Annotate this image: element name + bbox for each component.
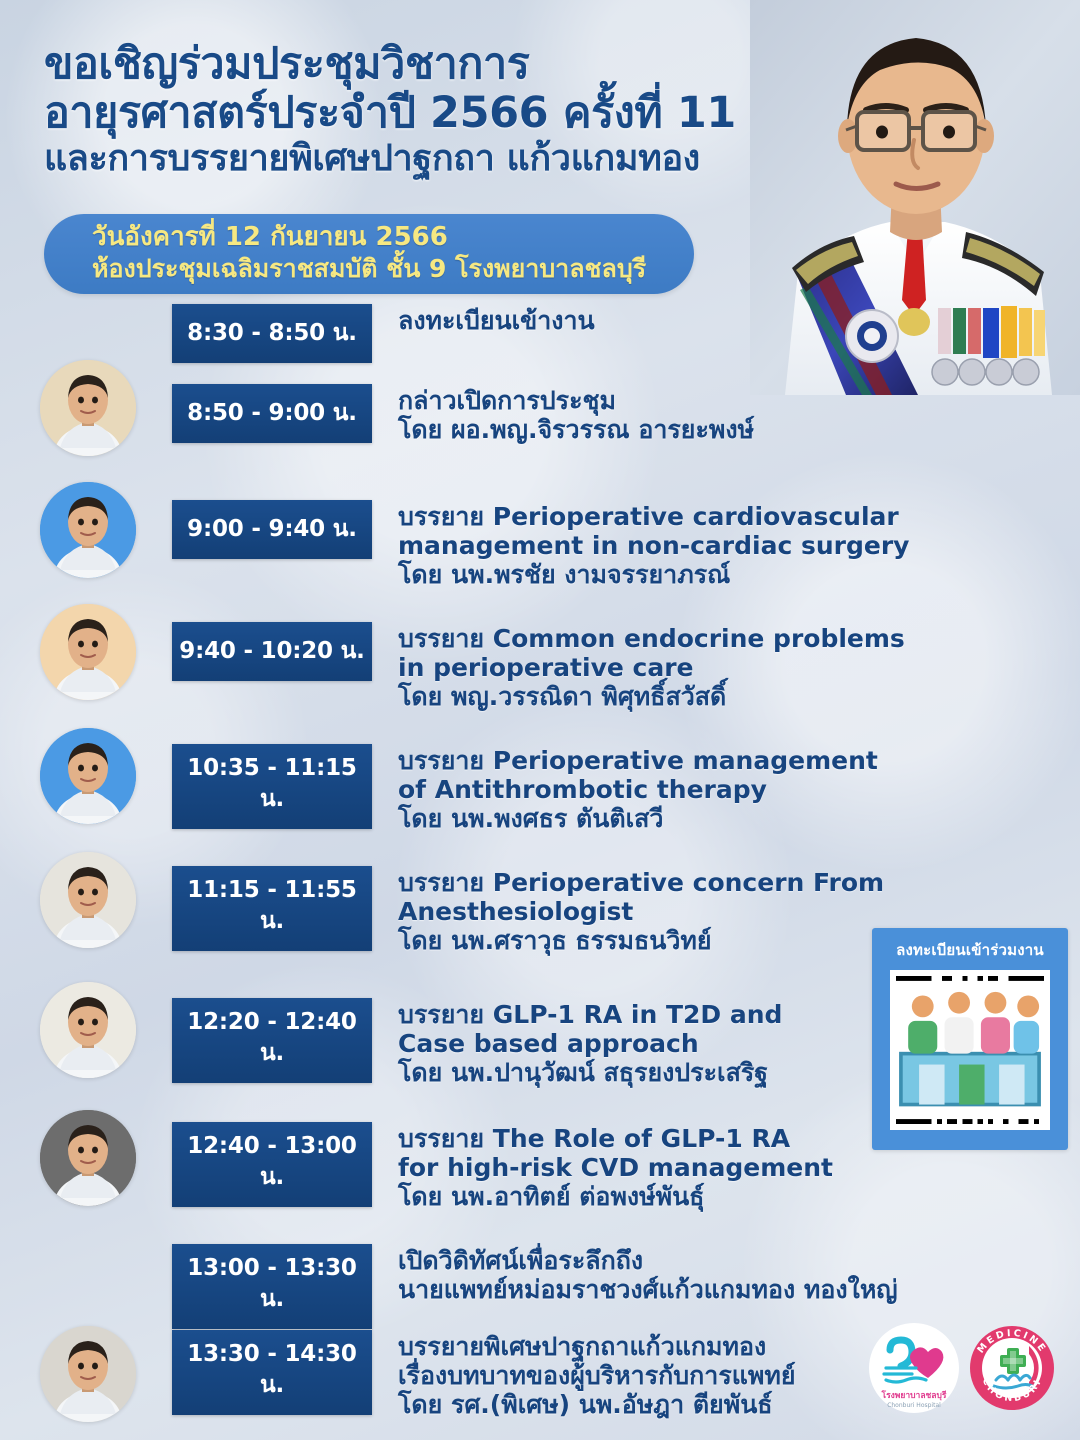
session-topic-line: โดย นพ.ศราวุธ ธรรมธนวิทย์ — [398, 926, 884, 955]
schedule-row: 9:40 - 10:20 น.บรรยาย Common endocrine p… — [0, 622, 1080, 711]
session-topic: บรรยาย GLP-1 RA in T2D andCase based app… — [398, 998, 782, 1087]
session-time-badge: 13:30 - 14:30 น. — [172, 1330, 372, 1415]
session-topic-line: กล่าวเปิดการประชุม — [398, 386, 754, 415]
title-line-3: และการบรรยายพิเศษปาฐกถา แก้วแกมทอง — [44, 138, 804, 179]
registration-qr-panel[interactable]: ลงทะเบียนเข้าร่วมงาน — [872, 928, 1068, 1150]
session-topic: บรรยาย Perioperative cardiovascularmanag… — [398, 500, 909, 589]
session-topic-line: นายแพทย์หม่อมราชวงศ์แก้วแกมทอง ทองใหญ่ — [398, 1275, 898, 1304]
event-venue: ห้องประชุมเฉลิมราชสมบัติ ชั้น 9 โรงพยาบา… — [92, 254, 694, 285]
qr-center-logo — [890, 970, 1050, 1130]
speaker-avatar — [40, 1326, 136, 1422]
session-topic-line: โดย นพ.ปานุวัฒน์ สธุรยงประเสริฐ — [398, 1058, 782, 1087]
session-topic-line: บรรยายพิเศษปาฐกถาแก้วแกมทอง — [398, 1332, 795, 1361]
session-topic: เปิดวิดิทัศน์เพื่อระลึกถึงนายแพทย์หม่อมร… — [398, 1244, 898, 1304]
session-topic-line: บรรยาย GLP-1 RA in T2D and — [398, 1000, 782, 1029]
event-date: วันอังคารที่ 12 กันยายน 2566 — [92, 222, 694, 254]
session-topic-line: Anesthesiologist — [398, 897, 884, 926]
session-topic-line: บรรยาย Common endocrine problems — [398, 624, 905, 653]
session-topic: กล่าวเปิดการประชุมโดย ผอ.พญ.จิรวรรณ อารย… — [398, 384, 754, 444]
session-topic-line: เปิดวิดิทัศน์เพื่อระลึกถึง — [398, 1246, 898, 1275]
session-time-badge: 12:40 - 13:00 น. — [172, 1122, 372, 1207]
session-topic-line: ลงทะเบียนเข้างาน — [398, 306, 595, 335]
speaker-avatar — [40, 360, 136, 456]
session-time-badge: 13:00 - 13:30 น. — [172, 1244, 372, 1329]
session-topic: บรรยายพิเศษปาฐกถาแก้วแกมทองเรื่องบทบาทขอ… — [398, 1330, 795, 1419]
session-topic-line: of Antithrombotic therapy — [398, 775, 878, 804]
session-time-badge: 9:00 - 9:40 น. — [172, 500, 372, 559]
session-topic: บรรยาย Perioperative managementof Antith… — [398, 744, 878, 833]
session-topic-line: โดย นพ.อาทิตย์ ต่อพงษ์พันธุ์ — [398, 1182, 833, 1211]
schedule-row: 13:00 - 13:30 น.เปิดวิดิทัศน์เพื่อระลึกถ… — [0, 1244, 1080, 1329]
session-topic-line: โดย รศ.(พิเศษ) นพ.อัษฎา ตียพันธ์ — [398, 1390, 795, 1419]
session-time-badge: 12:20 - 12:40 น. — [172, 998, 372, 1083]
session-topic-line: บรรยาย Perioperative concern From — [398, 868, 884, 897]
session-topic-line: โดย นพ.พงศธร ตันติเสวี — [398, 804, 878, 833]
schedule-row: 10:35 - 11:15 น.บรรยาย Perioperative man… — [0, 744, 1080, 833]
session-topic-line: โดย พญ.วรรณิดา พิศุทธิ์สวัสดิ์ — [398, 682, 905, 711]
title-line-1: ขอเชิญร่วมประชุมวิชาการ — [44, 40, 804, 89]
session-topic-line: โดย นพ.พรชัย งามจรรยาภรณ์ — [398, 560, 909, 589]
medicine-chonburi-logo: MEDICINE CHONBURI — [966, 1322, 1058, 1414]
session-time-badge: 10:35 - 11:15 น. — [172, 744, 372, 829]
speaker-avatar — [40, 852, 136, 948]
page-title: ขอเชิญร่วมประชุมวิชาการ อายุรศาสตร์ประจำ… — [44, 40, 804, 179]
session-topic: บรรยาย The Role of GLP-1 RAfor high-risk… — [398, 1122, 833, 1211]
session-time-badge: 8:50 - 9:00 น. — [172, 384, 372, 443]
speaker-avatar — [40, 982, 136, 1078]
speaker-avatar — [40, 482, 136, 578]
session-topic: บรรยาย Common endocrine problemsin perio… — [398, 622, 905, 711]
schedule-row: 9:00 - 9:40 น.บรรยาย Perioperative cardi… — [0, 500, 1080, 589]
speaker-avatar — [40, 1110, 136, 1206]
session-topic-line: บรรยาย Perioperative management — [398, 746, 878, 775]
title-line-2: อายุรศาสตร์ประจำปี 2566 ครั้งที่ 11 — [44, 89, 804, 138]
session-topic-line: บรรยาย The Role of GLP-1 RA — [398, 1124, 833, 1153]
session-topic-line: บรรยาย Perioperative cardiovascular — [398, 502, 909, 531]
schedule-row: 8:30 - 8:50 น.ลงทะเบียนเข้างาน — [0, 304, 1080, 363]
footer-logos: โรงพยาบาลชลบุรี Chonburi Hospital — [868, 1318, 1068, 1418]
speaker-avatar — [40, 728, 136, 824]
chonburi-hospital-logo: โรงพยาบาลชลบุรี Chonburi Hospital — [868, 1322, 960, 1414]
qr-code[interactable] — [890, 970, 1050, 1130]
date-venue-banner: วันอังคารที่ 12 กันยายน 2566 ห้องประชุมเ… — [44, 214, 694, 294]
session-topic: ลงทะเบียนเข้างาน — [398, 304, 595, 335]
session-time-badge: 11:15 - 11:55 น. — [172, 866, 372, 951]
hospital-logo-th: โรงพยาบาลชลบุรี — [881, 1390, 947, 1401]
session-topic-line: Case based approach — [398, 1029, 782, 1058]
session-topic-line: for high-risk CVD management — [398, 1153, 833, 1182]
session-topic-line: โดย ผอ.พญ.จิรวรรณ อารยะพงษ์ — [398, 415, 754, 444]
speaker-avatar — [40, 604, 136, 700]
session-topic-line: in perioperative care — [398, 653, 905, 682]
session-topic-line: management in non-cardiac surgery — [398, 531, 909, 560]
schedule-row: 8:50 - 9:00 น.กล่าวเปิดการประชุมโดย ผอ.พ… — [0, 384, 1080, 444]
session-topic-line: เรื่องบทบาทของผู้บริหารกับการแพทย์ — [398, 1361, 795, 1390]
qr-caption: ลงทะเบียนเข้าร่วมงาน — [872, 938, 1068, 962]
session-time-badge: 9:40 - 10:20 น. — [172, 622, 372, 681]
session-topic: บรรยาย Perioperative concern FromAnesthe… — [398, 866, 884, 955]
session-time-badge: 8:30 - 8:50 น. — [172, 304, 372, 363]
hospital-logo-en: Chonburi Hospital — [887, 1402, 941, 1409]
